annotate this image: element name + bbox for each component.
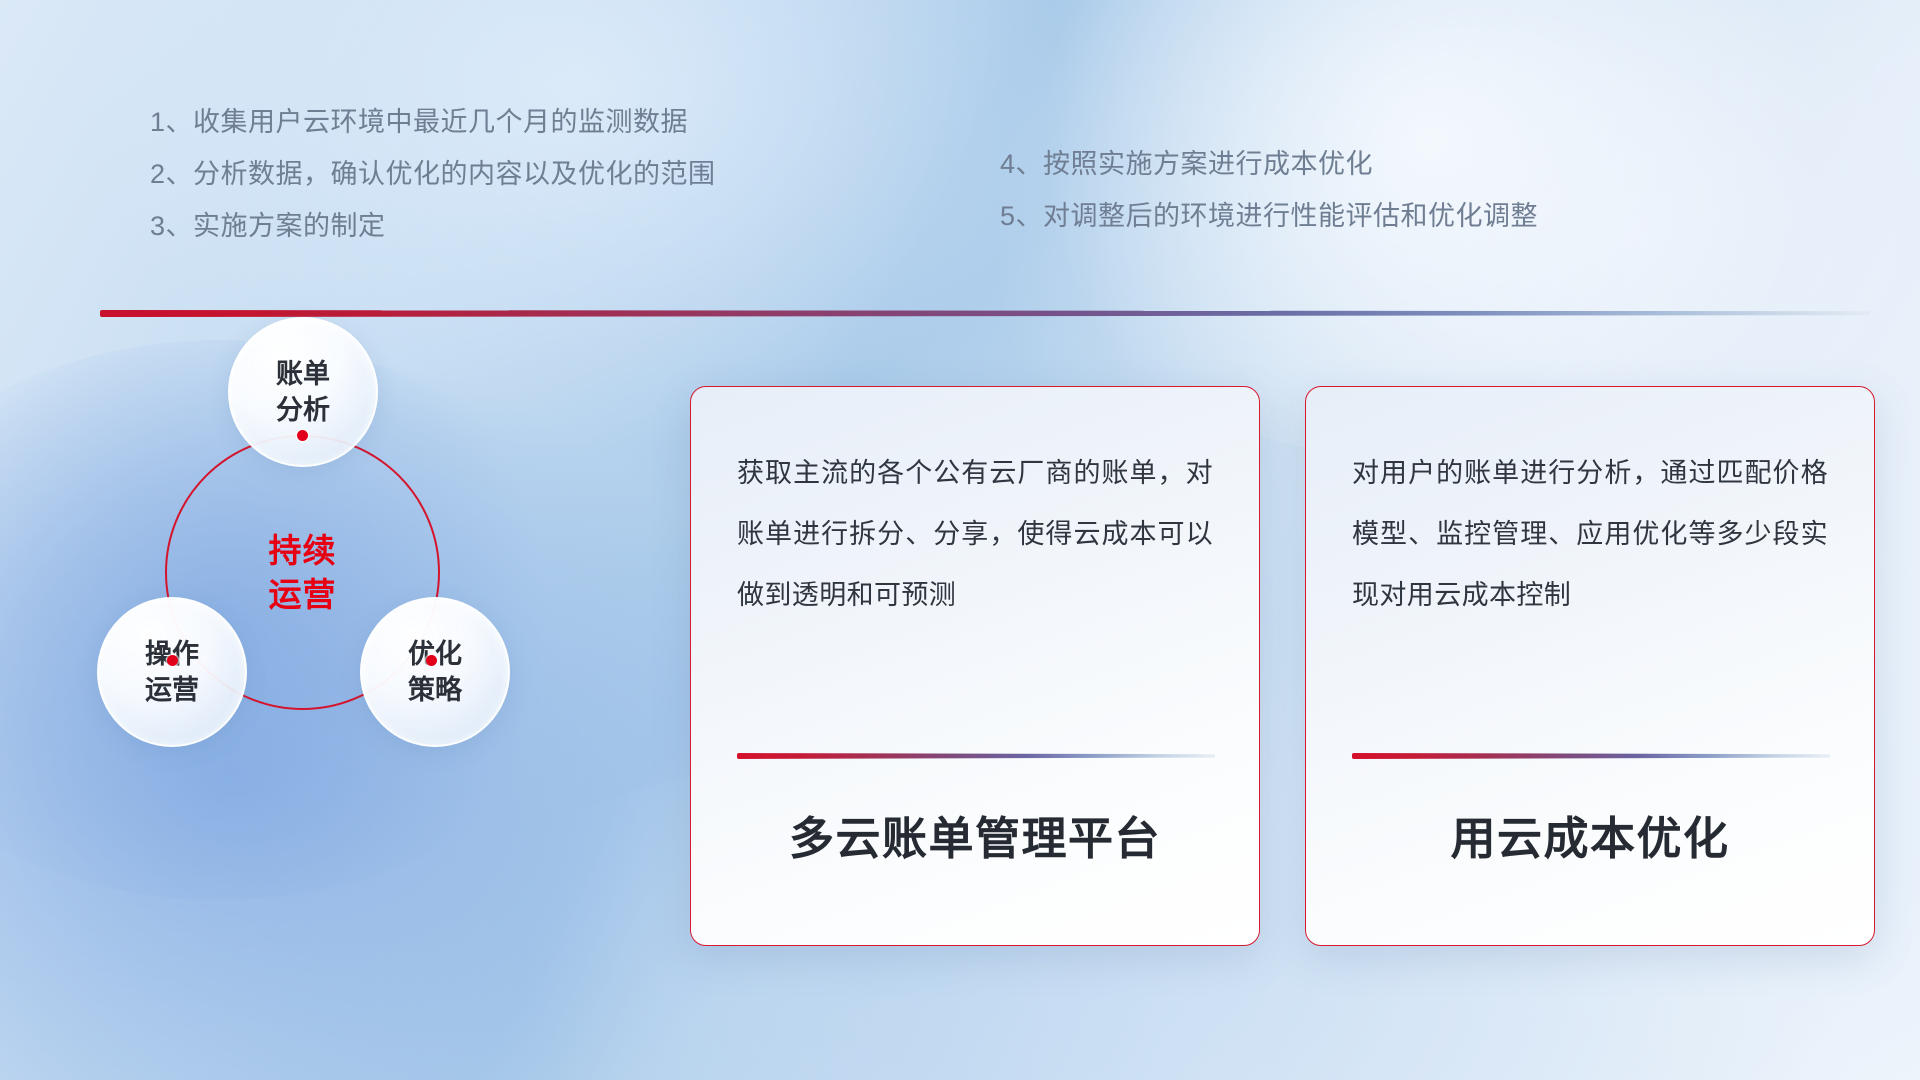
venn-diagram: 持续 运营 账单 分析 操作 运营 优化 策略 — [95, 355, 615, 935]
step-item: 2、分析数据，确认优化的内容以及优化的范围 — [150, 148, 716, 200]
steps-left-column: 1、收集用户云环境中最近几个月的监测数据 2、分析数据，确认优化的内容以及优化的… — [150, 96, 716, 252]
card-title: 用云成本优化 — [1306, 802, 1874, 867]
card-body-text: 获取主流的各个公有云厂商的账单，对账单进行拆分、分享，使得云成本可以做到透明和可… — [737, 443, 1213, 625]
step-item: 1、收集用户云环境中最近几个月的监测数据 — [150, 96, 716, 148]
venn-bubble-operations[interactable]: 操作 运营 — [97, 597, 247, 747]
step-item: 4、按照实施方案进行成本优化 — [1000, 138, 1538, 190]
card-divider-rule — [737, 753, 1215, 759]
card-divider-rule — [1352, 753, 1830, 759]
bubble-label-line1: 操作 — [145, 636, 199, 672]
feature-card-multicloud-billing[interactable]: 获取主流的各个公有云厂商的账单，对账单进行拆分、分享，使得云成本可以做到透明和可… — [690, 386, 1260, 946]
step-item: 3、实施方案的制定 — [150, 200, 716, 252]
bubble-label-line2: 运营 — [145, 672, 199, 708]
bubble-label-line1: 优化 — [408, 636, 462, 672]
slide-canvas: 1、收集用户云环境中最近几个月的监测数据 2、分析数据，确认优化的内容以及优化的… — [0, 0, 1920, 1080]
bubble-label-line2: 分析 — [276, 392, 330, 428]
card-body-text: 对用户的账单进行分析，通过匹配价格模型、监控管理、应用优化等多少段实现对用云成本… — [1352, 443, 1828, 625]
bubble-label-line1: 账单 — [276, 356, 330, 392]
bubble-label-line2: 策略 — [408, 672, 462, 708]
section-divider-rule — [100, 310, 1870, 317]
card-title: 多云账单管理平台 — [691, 802, 1259, 867]
venn-node-dot-left — [167, 655, 178, 666]
feature-card-cloud-cost-optimization[interactable]: 对用户的账单进行分析，通过匹配价格模型、监控管理、应用优化等多少段实现对用云成本… — [1305, 386, 1875, 946]
venn-node-dot-right — [426, 655, 437, 666]
steps-right-column: 4、按照实施方案进行成本优化 5、对调整后的环境进行性能评估和优化调整 — [1000, 138, 1538, 242]
venn-node-dot-top — [297, 430, 308, 441]
step-item: 5、对调整后的环境进行性能评估和优化调整 — [1000, 190, 1538, 242]
venn-bubble-billing-analysis[interactable]: 账单 分析 — [228, 317, 378, 467]
steps-section: 1、收集用户云环境中最近几个月的监测数据 2、分析数据，确认优化的内容以及优化的… — [0, 96, 1920, 286]
venn-bubble-optimization-strategy[interactable]: 优化 策略 — [360, 597, 510, 747]
